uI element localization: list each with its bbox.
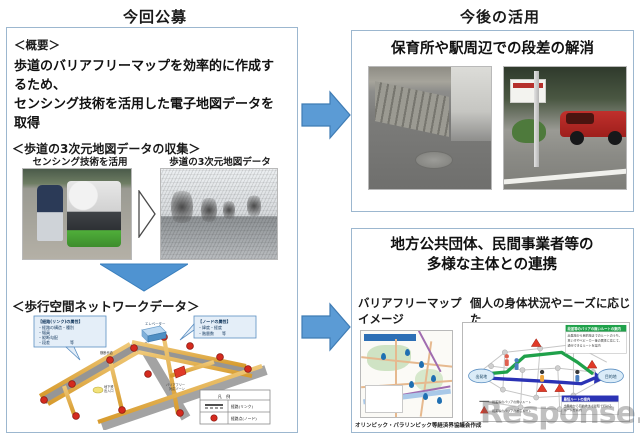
svg-text:経路(リンク): 経路(リンク): [231, 404, 253, 409]
heading-step-elimination: 保育所や駅周辺での段差の解消: [360, 40, 625, 60]
bush-shape: [512, 119, 546, 143]
callout-link-attributes: 【経路(リンク)の属性】 ・経路の構造・種別 ・幅員 ・縦断勾配 ・段差 等: [34, 316, 106, 360]
svg-text:出入口: 出入口: [104, 388, 114, 393]
caption-barrier-free-map-line-1: バリアフリーマップ: [358, 296, 468, 312]
map-pin: [431, 375, 436, 382]
network-legend: 凡 例 経路(リンク) 経路点(ノード): [200, 390, 270, 424]
sidewalk-step-photo: [368, 66, 492, 190]
overview-line-2: センシング技術を活用した電子地図データを取得: [14, 96, 286, 134]
svg-text:凡 例: 凡 例: [218, 393, 231, 400]
column-title-current-call: 今回公募: [60, 6, 250, 27]
barrier-free-map-thumbnail: [360, 330, 453, 418]
caption-3d-map-data: 歩道の3次元地図データ: [160, 154, 280, 168]
route-node-start: 出発地: [469, 369, 494, 383]
svg-text:目的地: 目的地: [605, 374, 617, 379]
car-wheel-front: [570, 131, 584, 145]
map-pin: [437, 397, 442, 404]
pedestrian-network-diagram: エレベーター バリアフリー 対応ゾーン 地下鉄 出入口 横断歩道 【経路(リンク…: [14, 314, 284, 430]
map-title-bar: [364, 334, 416, 341]
underground-entrance-icon: 地下鉄 出入口: [93, 384, 114, 393]
svg-text:・階層数 等: ・階層数 等: [198, 330, 226, 336]
svg-text:最短ルートの案内: 最短ルートの案内: [564, 396, 591, 401]
svg-text:ルートを案内: ルートを案内: [564, 407, 582, 412]
caption-barrier-free-map-line-2: イメージ: [358, 312, 468, 328]
svg-text:出発地から目的地まで最短で行ける: 出発地から目的地まで最短で行ける: [564, 403, 612, 408]
infographic-root: 今回公募 今後の活用 ＜概要＞ 歩道のバリアフリーマップを効率的に作成するため、…: [0, 0, 640, 439]
svg-text:経路点(ノード): 経路点(ノード): [231, 416, 257, 421]
heading-collaboration: 地方公共団体、民間事業者等の 多様な主体との連携: [358, 236, 626, 275]
svg-text:対応ゾーン: 対応ゾーン: [169, 386, 185, 391]
svg-text:エレベーター: エレベーター: [145, 321, 166, 326]
flow-arrow-right-bottom: [300, 300, 352, 354]
route-guidance-diagram: 出発地 目的地 段差等のバリアの無いルートの案内 出発地から目的地までのルートの…: [462, 322, 630, 422]
overview-text: 歩道のバリアフリーマップを効率的に作成するため、 センシング技術を活用した電子地…: [14, 58, 286, 133]
callout-node-attributes: 【ノードの属性】 ・緯度・経度 ・階層数 等: [180, 316, 256, 340]
column-title-future-use: 今後の活用: [405, 6, 595, 27]
map-pin: [423, 393, 428, 400]
map-pin: [409, 381, 414, 388]
elevator-icon: エレベーター: [142, 321, 166, 342]
callout-shortest-route: 最短ルートの案内 出発地から目的地まで最短で行ける ルートを案内: [562, 396, 619, 415]
map-credit-text: オリンピック・パラリンピック等経済界協議会作成: [355, 421, 463, 429]
svg-text:出発地: 出発地: [475, 374, 487, 379]
overview-line-1: 歩道のバリアフリーマップを効率的に作成するため、: [14, 58, 286, 96]
callout-barrier-free-route: 段差等のバリアの無いルートの案内 出発地から目的地までのルートのうち、 車いすや…: [566, 325, 627, 353]
map-legend-box: [365, 385, 403, 413]
point-cloud-data-photo: [160, 168, 278, 260]
chevron-right-icon: [138, 190, 156, 238]
manhole-cover: [415, 151, 453, 169]
car-wheel-rear: [608, 131, 622, 145]
street-sign: [510, 79, 546, 103]
caption-barrier-free-map: バリアフリーマップ イメージ: [358, 296, 468, 327]
caption-sensing-tech: センシング技術を活用: [25, 154, 135, 168]
svg-text:通行できるルートを案内: 通行できるルートを案内: [568, 343, 601, 348]
svg-text:・段差 等: ・段差 等: [38, 339, 74, 345]
route-node-goal: 目的地: [598, 369, 623, 383]
road-lane-line: [504, 169, 627, 185]
sensing-equipment-photo: [22, 168, 132, 260]
network-section-label: ＜歩行空間ネットワークデータ＞: [12, 296, 200, 315]
map-pin: [405, 349, 410, 356]
station-curb-car-photo: [503, 66, 627, 190]
map-pin: [419, 361, 424, 368]
flow-arrow-right-top: [300, 88, 352, 142]
heading-collaboration-line-2: 多様な主体との連携: [358, 256, 626, 276]
map-pin: [381, 353, 386, 360]
flow-arrow-down: [100, 262, 188, 292]
svg-text:【ノードの属性】: 【ノードの属性】: [198, 318, 231, 324]
svg-text:段差等のバリアの無いルート: 段差等のバリアの無いルート: [492, 399, 531, 404]
car-window: [566, 113, 594, 124]
svg-text:出発地から目的地までのルートのうち、: 出発地から目的地までのルートのうち、: [568, 333, 622, 338]
svg-text:車いすやベビーカー等の属性に応じて、: 車いすやベビーカー等の属性に応じて、: [568, 338, 622, 343]
svg-text:【経路(リンク)の属性】: 【経路(リンク)の属性】: [38, 318, 83, 324]
svg-text:・緯度・経度: ・緯度・経度: [198, 324, 222, 330]
route-diagram-legend: 段差等のバリアの無いルート 段差等のバリアのあるルート: [479, 399, 531, 413]
svg-text:段差等のバリアのあるルート: 段差等のバリアのあるルート: [492, 408, 531, 413]
crossing-label: 横断歩道: [100, 350, 114, 355]
utility-pole: [534, 71, 539, 167]
svg-text:段差等のバリアの無いルートの案内: 段差等のバリアの無いルートの案内: [568, 326, 622, 331]
overview-section-label: ＜概要＞: [14, 37, 60, 53]
heading-collaboration-line-1: 地方公共団体、民間事業者等の: [358, 236, 626, 256]
